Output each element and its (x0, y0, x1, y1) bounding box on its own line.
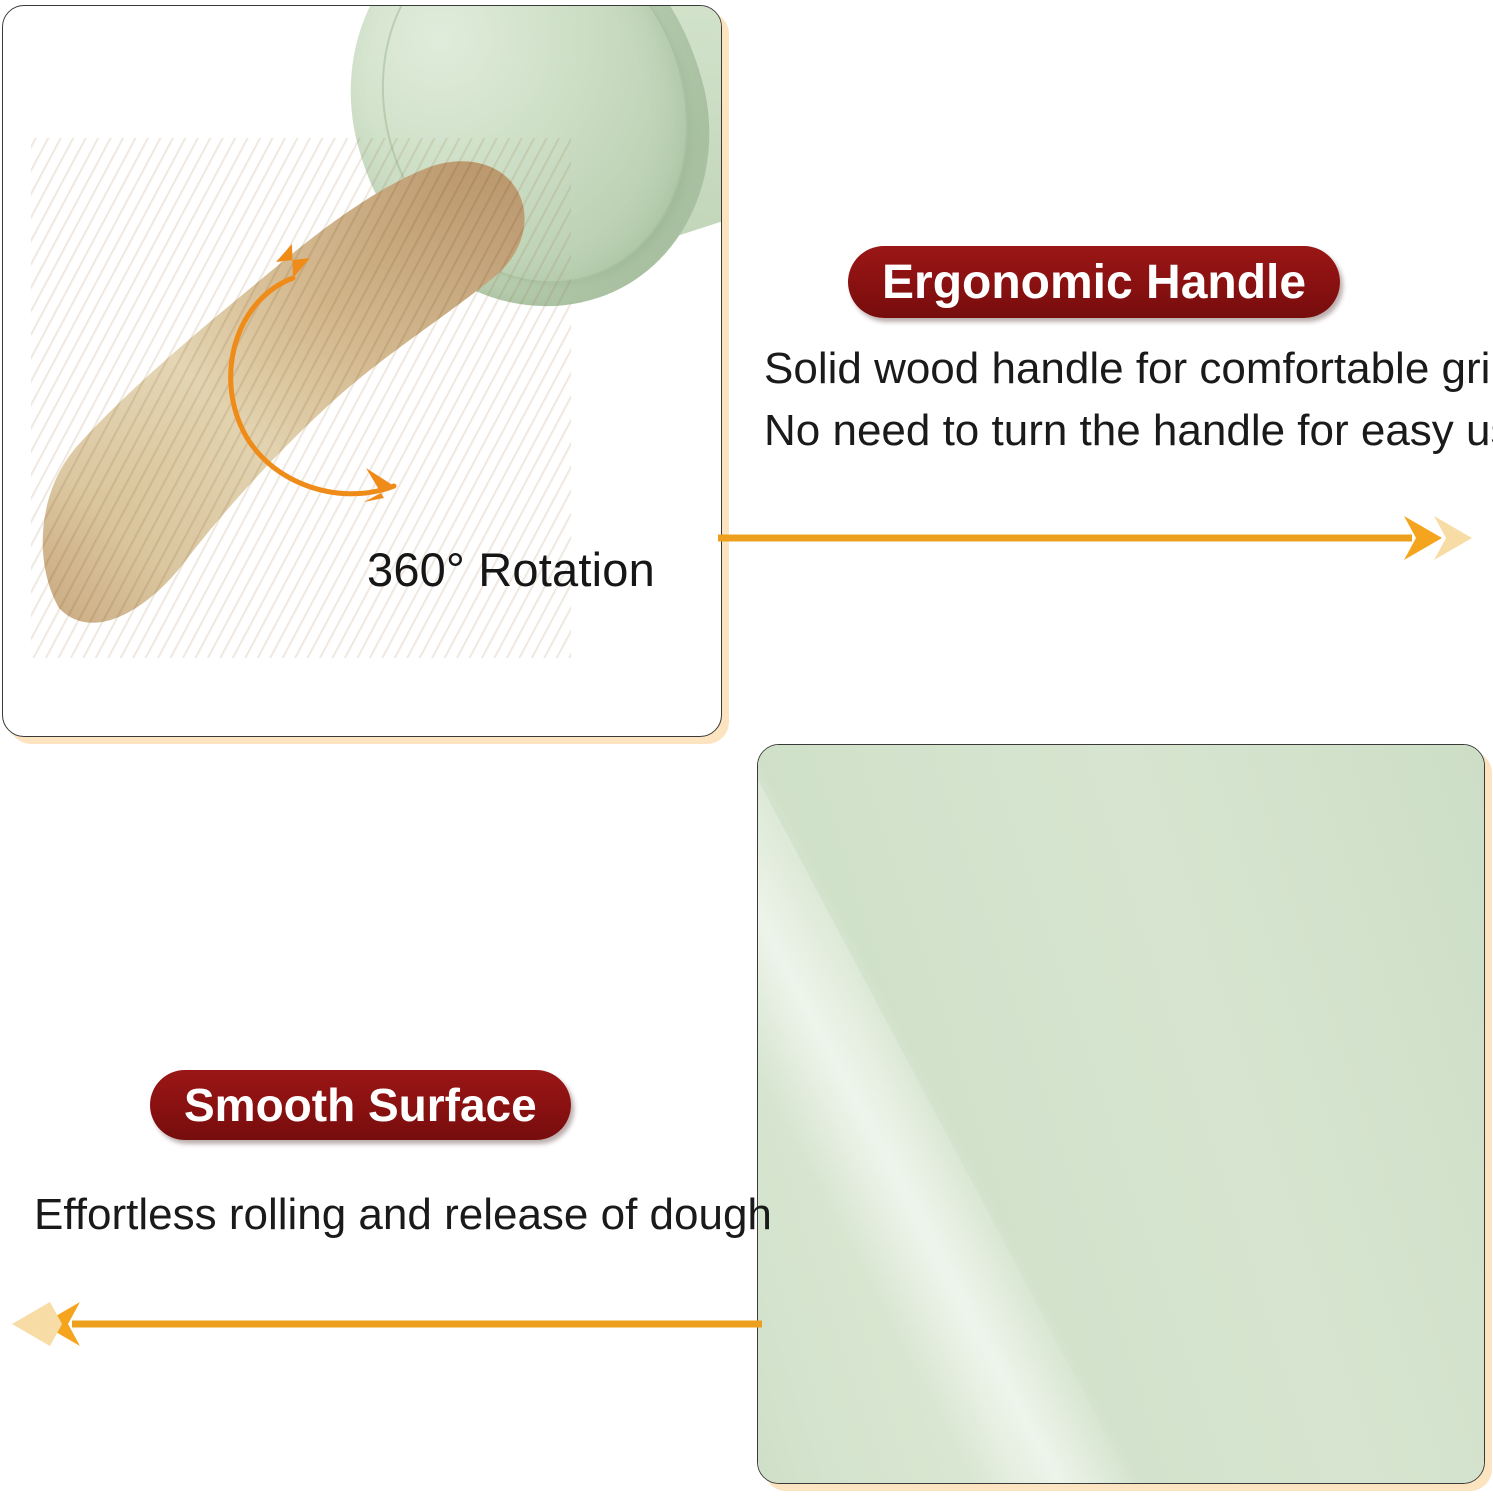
infographic-canvas: 360° Rotation Ergonomic Handle Solid woo… (0, 0, 1493, 1500)
connector-arrow-left (0, 1294, 762, 1354)
rotation-caption: 360° Rotation (367, 542, 655, 597)
badge-ergonomic-handle: Ergonomic Handle (848, 246, 1340, 318)
badge-smooth-surface: Smooth Surface (150, 1070, 571, 1140)
surface-product-photo (758, 745, 1484, 1483)
ergonomic-handle-line-2: No need to turn the handle for easy use (764, 406, 1493, 456)
handle-product-photo: 360° Rotation (3, 6, 721, 736)
rotation-arrow-icon (198, 236, 498, 536)
connector-arrow-right (718, 508, 1493, 568)
handle-photo-panel: 360° Rotation (2, 5, 722, 737)
ergonomic-handle-line-1: Solid wood handle for comfortable grip (764, 344, 1493, 394)
smooth-surface-line-1: Effortless rolling and release of dough (34, 1190, 772, 1240)
surface-photo-panel (757, 744, 1485, 1484)
